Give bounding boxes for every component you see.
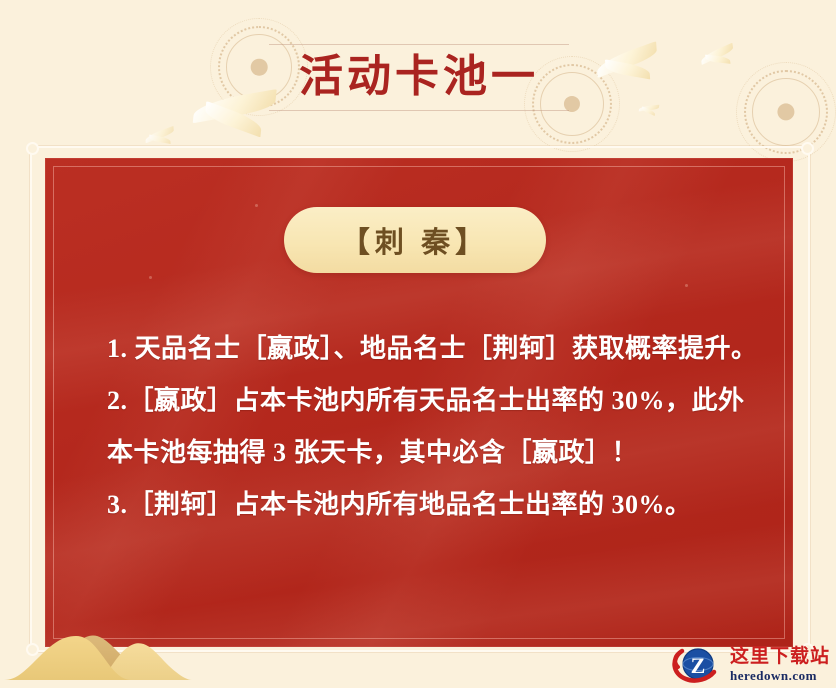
- frame-corner-dot: [26, 142, 39, 155]
- watermark-site-name-cn: 这里下载站: [730, 647, 830, 666]
- rule-item: 1. 天品名士［嬴政］、地品名士［荆轲］获取概率提升。: [107, 323, 761, 375]
- watermark-site-name-en: heredown.com: [730, 669, 830, 682]
- rule-item: 3.［荆轲］占本卡池内所有地品名士出率的 30%。: [107, 479, 761, 531]
- page-title: 活动卡池一: [286, 48, 552, 106]
- card-pool-badge: 【刺 秦】: [284, 207, 546, 273]
- heredown-z-logo-icon: Z: [670, 644, 724, 684]
- sun-circle-ornament-icon: [752, 78, 820, 146]
- sparkle-dot: [149, 276, 152, 279]
- title-rule-bottom: [269, 110, 569, 111]
- sparkle-dot: [255, 204, 258, 207]
- rules-list: 1. 天品名士［嬴政］、地品名士［荆轲］获取概率提升。 2.［嬴政］占本卡池内所…: [107, 323, 761, 531]
- frame-corner-dot: [801, 142, 814, 155]
- rule-item: 2.［嬴政］占本卡池内所有天品名士出率的 30%，此外本卡池每抽得 3 张天卡，…: [107, 375, 761, 479]
- frame-corner-dot: [26, 643, 39, 656]
- watermark-text: 这里下载站 heredown.com: [730, 647, 830, 682]
- svg-text:Z: Z: [691, 653, 706, 678]
- watermark: Z 这里下载站 heredown.com: [670, 642, 830, 686]
- page-title-block: 活动卡池一: [286, 44, 552, 111]
- title-rule-top: [269, 44, 569, 45]
- card-pool-badge-label: 【刺 秦】: [341, 219, 489, 261]
- banner-page: 活动卡池一 【刺 秦】 1. 天品名士［嬴政］、地品名士［荆轲］获取概率提升。 …: [0, 0, 836, 688]
- sparkle-dot: [685, 284, 688, 287]
- card-pool-panel: 【刺 秦】 1. 天品名士［嬴政］、地品名士［荆轲］获取概率提升。 2.［嬴政］…: [45, 158, 793, 647]
